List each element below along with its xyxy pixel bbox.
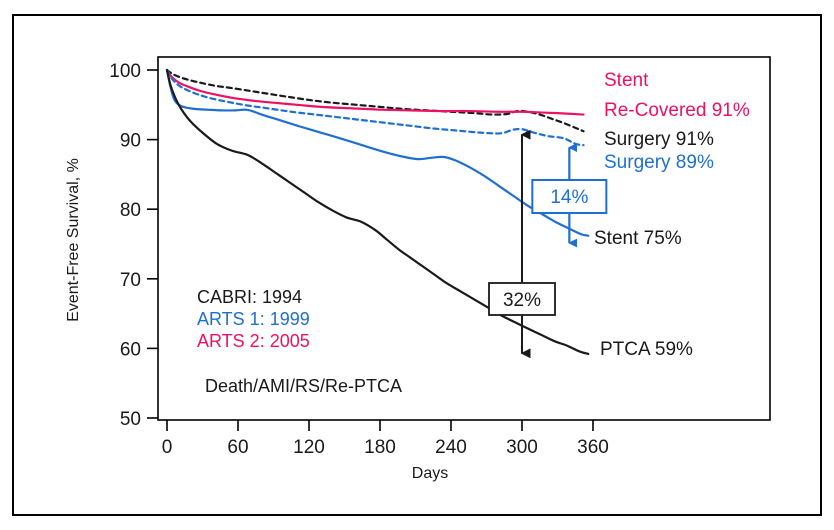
curve-surgery-89 [167,70,584,145]
y-tick-label-100: 100 [109,61,141,82]
series-label-surgery-black: Surgery 91% [604,129,714,150]
series-label-ptca-black: PTCA 59% [600,339,693,360]
gap-black-label: 32% [503,290,541,311]
y-tick-label-80: 80 [120,200,141,221]
x-tick-label-60: 60 [227,437,248,458]
legend-endpoint: Death/AMI/RS/Re-PTCA [205,376,402,396]
legend-arts1: ARTS 1: 1999 [197,309,310,329]
series-label-surgery-blue: Surgery 89% [604,152,714,173]
y-tick-label-50: 50 [120,409,141,430]
y-tick-label-70: 70 [120,270,141,291]
x-axis-tick-labels: 060120180240300360 [162,437,609,458]
figure-container: 1009080706050 060120180240300360 Event-F… [0,0,834,530]
y-axis-ticks [147,70,158,418]
series-label-stent-header: Stent [604,70,649,91]
annotation-gap-black: 32% [489,135,555,354]
x-axis-ticks [167,420,593,431]
curve-re-covered-91 [167,70,584,115]
y-axis-tick-labels: 1009080706050 [109,61,141,430]
series-label-stent-blue: Stent 75% [594,228,682,249]
x-tick-label-0: 0 [162,437,173,458]
x-tick-label-120: 120 [293,437,325,458]
x-tick-label-360: 360 [577,437,609,458]
gap-blue-label: 14% [550,187,588,208]
x-axis-title: Days [412,465,448,482]
curve-stent-75 [167,70,588,236]
y-tick-label-60: 60 [120,339,141,360]
x-tick-label-240: 240 [435,437,467,458]
x-tick-label-300: 300 [506,437,538,458]
y-axis-title: Event-Free Survival, % [65,158,82,322]
y-tick-label-90: 90 [120,131,141,152]
legend-cabri: CABRI: 1994 [197,287,302,307]
series-label-re-covered: Re-Covered 91% [604,100,750,121]
legend-arts2: ARTS 2: 2005 [197,331,310,351]
x-tick-label-180: 180 [364,437,396,458]
chart-canvas: 1009080706050 060120180240300360 Event-F… [0,0,834,530]
